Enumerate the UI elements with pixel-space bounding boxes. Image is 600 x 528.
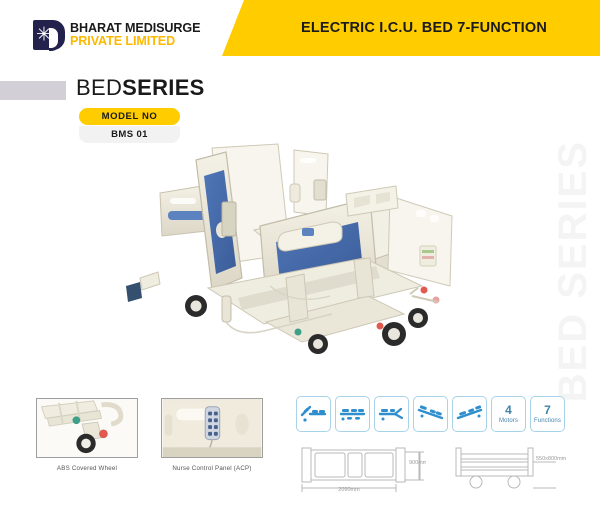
thumbnail-image-panel <box>161 398 263 458</box>
dimension-top-view: 2090mm 900mm <box>296 444 426 502</box>
dimension-side-view: 550x800mm <box>448 444 588 502</box>
thumbnail-caption-panel: Nurse Control Panel (ACP) <box>161 465 263 472</box>
dim-width-label: 900mm <box>409 460 426 466</box>
series-watermark: BED SERIES <box>551 140 596 402</box>
series-title-bold: SERIES <box>122 75 205 100</box>
functions-value: 7 <box>544 404 551 416</box>
functions-count-box: 7 Functions <box>530 396 565 432</box>
page-title: BEDSERIES <box>76 75 205 101</box>
bottom-section: ABS Covered Wheel Nurse Control <box>0 392 600 512</box>
asterisk-b-logo-icon <box>33 20 65 50</box>
thumbnail-nurse-panel: Nurse Control Panel (ACP) <box>161 398 263 472</box>
trendelenburg-icon <box>413 396 448 432</box>
dim-size-label: 550x800mm <box>536 456 567 462</box>
product-title-banner: ELECTRIC I.C.U. BED 7-FUNCTION <box>222 0 600 56</box>
model-label: MODEL NO <box>79 108 180 125</box>
flat-bed-icon <box>335 396 370 432</box>
page-header: ELECTRIC I.C.U. BED 7-FUNCTION BHARAT ME… <box>0 0 600 62</box>
title-accent-bar <box>0 81 66 100</box>
functions-label: Functions <box>534 418 561 424</box>
company-logo: BHARAT MEDISURGE PRIVATE LIMITED <box>33 20 200 50</box>
function-icons-row: 4 Motors 7 Functions <box>296 396 565 432</box>
knee-bend-icon <box>374 396 409 432</box>
reverse-trendelenburg-icon <box>452 396 487 432</box>
series-title-light: BED <box>76 75 122 100</box>
backrest-raise-icon <box>296 396 331 432</box>
motors-value: 4 <box>505 404 512 416</box>
banner-title: ELECTRIC I.C.U. BED 7-FUNCTION <box>301 20 547 36</box>
motors-label: Motors <box>499 418 518 424</box>
thumbnail-image-wheel <box>36 398 138 458</box>
motors-count-box: 4 Motors <box>491 396 526 432</box>
dimension-drawings: 2090mm 900mm 550x800mm <box>296 444 588 502</box>
thumbnail-caption-wheel: ABS Covered Wheel <box>36 465 138 472</box>
product-hero-image <box>118 138 463 370</box>
dim-length-label: 2090mm <box>338 487 360 493</box>
series-title-row: BEDSERIES <box>0 78 600 104</box>
thumbnail-abs-wheel: ABS Covered Wheel <box>36 398 138 472</box>
company-name-line2: PRIVATE LIMITED <box>70 35 200 48</box>
